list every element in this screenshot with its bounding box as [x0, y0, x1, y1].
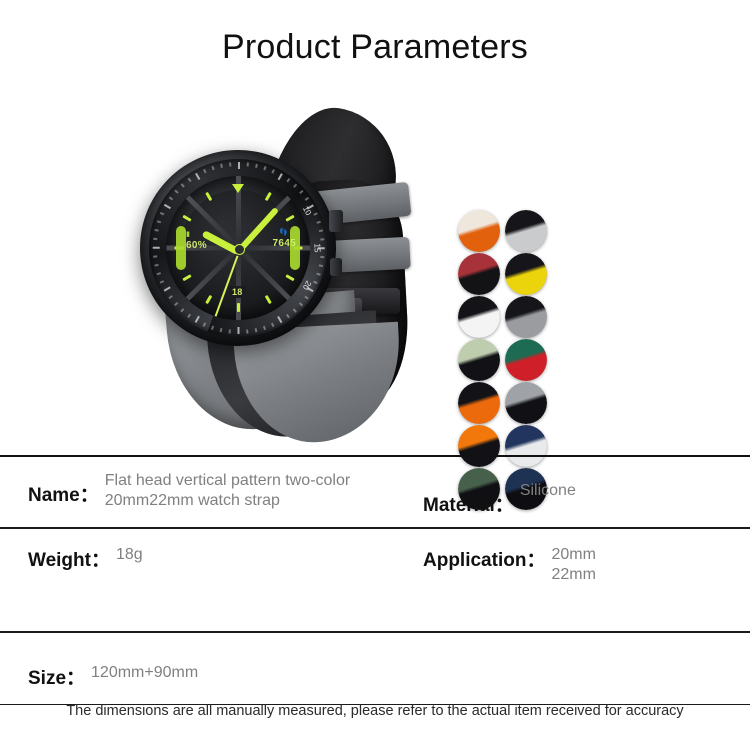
- bezel-tick: [153, 238, 157, 240]
- bezel-tick: [263, 166, 266, 170]
- bezel-number: 15: [312, 244, 321, 253]
- smartwatch-case: 101520 ▮ 60% 👣 7645 18: [140, 150, 336, 346]
- bezel-tick: [247, 329, 249, 333]
- bezel-tick: [154, 229, 158, 231]
- application-value: 20mm22mm: [551, 545, 595, 586]
- dial-date-text: 18: [229, 286, 246, 298]
- swatch-fill: [505, 296, 547, 338]
- swatch-fill: [458, 296, 500, 338]
- product-parameters-page: Product Parameters: [0, 0, 750, 750]
- bezel-tick: [238, 162, 240, 169]
- swatch-fill: [458, 382, 500, 424]
- swatch-fill: [505, 382, 547, 424]
- bezel-tick: [320, 238, 324, 240]
- bezel-tick: [153, 247, 160, 249]
- footstep-icon: 👣: [279, 228, 288, 236]
- color-swatch-black-gray[interactable]: [505, 296, 547, 338]
- color-swatch-black-yellow[interactable]: [505, 253, 547, 295]
- dial-arc-left: [176, 226, 186, 270]
- name-value: Flat head vertical pattern two-color20mm…: [105, 471, 350, 512]
- color-swatch-sage-black[interactable]: [458, 339, 500, 381]
- bezel-tick: [195, 173, 200, 180]
- name-label: Name：: [28, 471, 99, 507]
- bezel-tick: [160, 212, 164, 215]
- swatch-fill: [505, 210, 547, 252]
- swatch-fill: [458, 253, 500, 295]
- table-row-weight-application: Weight： 18g Application： 20mm22mm: [0, 529, 750, 596]
- swatch-fill: [505, 339, 547, 381]
- bezel-tick: [278, 173, 283, 180]
- dial-battery-text: 60%: [186, 240, 207, 251]
- bezel-tick: [195, 316, 200, 323]
- specification-table: Name： Flat head vertical pattern two-col…: [0, 455, 750, 705]
- bezel-tick: [263, 326, 266, 330]
- bezel-tick: [229, 329, 231, 333]
- bezel-tick: [211, 166, 214, 170]
- bezel-tick: [305, 296, 309, 300]
- bezel-tick: [157, 273, 161, 276]
- color-swatch-black-orange[interactable]: [458, 382, 500, 424]
- bezel-tick: [317, 273, 321, 276]
- table-row-name-material: Name： Flat head vertical pattern two-col…: [0, 457, 750, 527]
- bezel-tick: [169, 296, 173, 300]
- bezel-tick: [286, 314, 290, 318]
- bezel-tick: [188, 314, 192, 318]
- bezel-tick: [181, 308, 185, 312]
- bezel-tick: [203, 169, 206, 173]
- bezel-tick: [181, 184, 185, 188]
- bezel-tick: [247, 162, 249, 166]
- swatch-fill: [458, 210, 500, 252]
- application-label: Application：: [423, 545, 545, 572]
- dial-index: [264, 295, 271, 304]
- bezel-tick: [271, 169, 274, 173]
- weight-label: Weight：: [28, 545, 110, 572]
- page-title: Product Parameters: [0, 28, 750, 67]
- bezel-tick: [319, 264, 323, 266]
- color-swatch-black-silver[interactable]: [505, 210, 547, 252]
- table-row-size: Size： 120mm+90mm: [0, 633, 750, 704]
- bezel-tick: [153, 256, 157, 258]
- size-value: 120mm+90mm: [91, 663, 198, 683]
- bezel-tick: [313, 281, 317, 284]
- swatch-fill: [505, 253, 547, 295]
- material-label: Material：: [423, 481, 514, 517]
- color-swatch-black-white[interactable]: [458, 296, 500, 338]
- bezel-tick: [229, 162, 231, 166]
- bezel-tick: [238, 327, 240, 334]
- color-swatch-cream-orange[interactable]: [458, 210, 500, 252]
- bezel-tick: [299, 190, 303, 194]
- dial-steps-text: 7645: [273, 238, 296, 249]
- bezel-tick: [299, 302, 303, 306]
- bezel-tick: [293, 308, 297, 312]
- bezel-tick: [278, 316, 283, 323]
- color-swatch-gray-black[interactable]: [505, 382, 547, 424]
- bezel-tick: [188, 178, 192, 182]
- bezel-tick: [154, 264, 158, 266]
- bezel-tick: [164, 287, 171, 292]
- bezel-tick: [160, 281, 164, 284]
- bezel-tick: [174, 190, 178, 194]
- bezel-tick: [157, 221, 161, 224]
- watch-crown: [329, 210, 343, 232]
- product-image-area: 101520 ▮ 60% 👣 7645 18: [0, 100, 750, 440]
- bezel-tick: [174, 302, 178, 306]
- dial-index: [237, 303, 240, 312]
- bezel-tick: [203, 323, 206, 327]
- dial-index: [285, 274, 294, 281]
- bezel-tick: [317, 221, 321, 224]
- color-swatch-darkred-black[interactable]: [458, 253, 500, 295]
- bezel-tick: [293, 184, 297, 188]
- hands-pivot: [234, 244, 245, 255]
- bezel-tick: [271, 323, 274, 327]
- swatch-fill: [458, 339, 500, 381]
- bezel-tick: [313, 212, 317, 215]
- watch-strap-photo: 101520 ▮ 60% 👣 7645 18: [118, 102, 448, 432]
- cell-application: Application： 20mm22mm: [415, 529, 750, 596]
- bezel-tick: [305, 197, 309, 201]
- cell-material: Material： Silicone: [415, 457, 750, 527]
- bezel-tick: [211, 326, 214, 330]
- bezel-tick: [220, 164, 222, 168]
- watch-dial: ▮ 60% 👣 7645 18: [166, 176, 310, 320]
- bezel-tick: [220, 328, 222, 332]
- bezel-tick: [319, 229, 323, 231]
- material-value: Silicone: [520, 481, 576, 501]
- bezel-tick: [320, 256, 324, 258]
- cell-name: Name： Flat head vertical pattern two-col…: [0, 457, 415, 527]
- bezel-tick: [169, 197, 173, 201]
- dial-top-triangle: [232, 184, 244, 193]
- bezel-tick: [286, 178, 290, 182]
- cell-weight: Weight： 18g: [0, 529, 415, 596]
- weight-value: 18g: [116, 545, 143, 565]
- bezel-tick: [164, 204, 171, 209]
- bezel-tick: [255, 164, 257, 168]
- battery-icon: ▮: [186, 230, 190, 238]
- bezel-tick: [255, 328, 257, 332]
- size-label: Size：: [28, 663, 85, 690]
- footer-disclaimer: The dimensions are all manually measured…: [0, 703, 750, 719]
- watch-side-button: [330, 258, 342, 276]
- color-swatch-green-red[interactable]: [505, 339, 547, 381]
